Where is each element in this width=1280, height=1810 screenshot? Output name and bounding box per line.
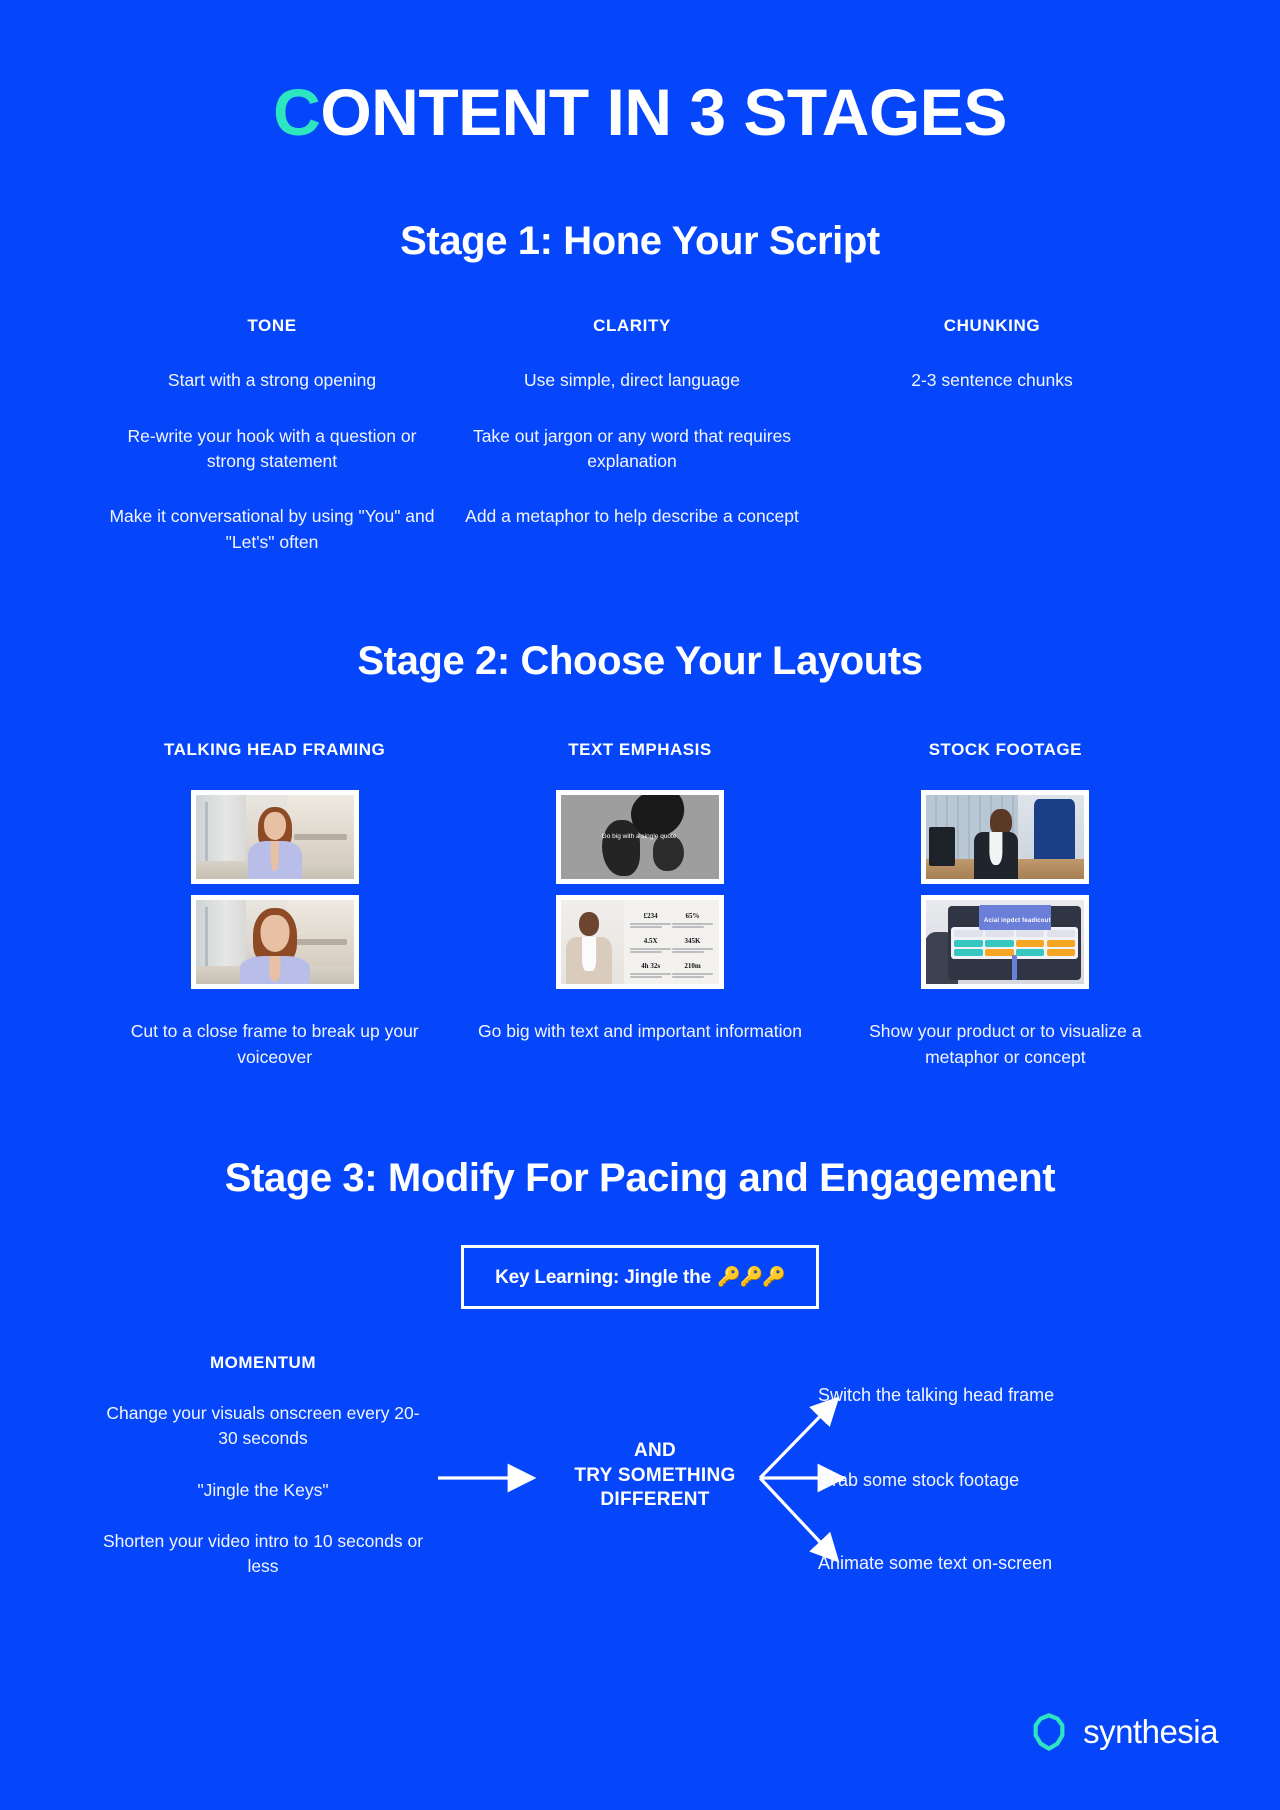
- dashboard-tile: [1047, 930, 1075, 937]
- stage1-column-chunking: CHUNKING 2-3 sentence chunks: [812, 316, 1172, 393]
- office-background-art-close: [196, 900, 354, 984]
- stage1-tone-heading: TONE: [102, 316, 442, 336]
- dashboard-tile-teal: [954, 940, 982, 947]
- stat-cell: 210m: [672, 955, 713, 979]
- key-learning-label: Key Learning: Jingle the: [495, 1267, 711, 1288]
- title-rest: ONTENT IN 3 STAGES: [320, 75, 1007, 149]
- diagram-branch-3: Animate some text on-screen: [818, 1553, 1052, 1574]
- quote-slide-art: Go big with a single quote.: [561, 795, 719, 879]
- dashboard-tile: [985, 930, 1013, 937]
- page-title: CONTENT IN 3 STAGES: [0, 0, 1280, 147]
- stage1-clarity-item-2: Take out jargon or any word that require…: [462, 424, 802, 475]
- momentum-item-3: Shorten your video intro to 10 seconds o…: [98, 1529, 428, 1580]
- stage2-stock-footage-caption: Show your product or to visualize a meta…: [831, 1019, 1180, 1070]
- stat-placeholder-lines: [672, 948, 713, 952]
- office-meeting-thumbnail: [921, 790, 1089, 884]
- stage-1-columns: TONE Start with a strong opening Re-writ…: [92, 316, 1188, 555]
- ink-blot-shape-2: [602, 820, 640, 875]
- dashboard-tile-teal: [985, 940, 1013, 947]
- stat-cell: 345K: [672, 930, 713, 954]
- dashboard-tile: [954, 930, 982, 937]
- stage1-tone-item-2: Re-write your hook with a question or st…: [102, 424, 442, 475]
- stat-value-6: 210m: [684, 962, 700, 970]
- stat-cell: 4h 32s: [630, 955, 671, 979]
- stage1-chunking-item-1: 2-3 sentence chunks: [822, 368, 1162, 393]
- stage2-text-emphasis-caption: Go big with text and important informati…: [465, 1019, 814, 1044]
- stage-1-heading: Stage 1: Hone Your Script: [92, 219, 1188, 264]
- dashboard-title: Acial inpdct feadicout: [984, 918, 1051, 924]
- quote-slide-thumbnail: Go big with a single quote.: [556, 790, 724, 884]
- infographic-page: CONTENT IN 3 STAGES Stage 1: Hone Your S…: [0, 0, 1280, 1810]
- stats-slide-art: £234 65% 4.5X: [561, 900, 719, 984]
- stage1-clarity-item-3: Add a metaphor to help describe a concep…: [462, 504, 802, 529]
- background-person-shape: [1034, 799, 1075, 861]
- key-emoji-icon: 🔑🔑🔑: [717, 1267, 785, 1288]
- stat-placeholder-lines: [672, 973, 713, 977]
- presenter-figure: [561, 900, 624, 984]
- key-learning-box: Key Learning: Jingle the🔑🔑🔑: [461, 1245, 819, 1309]
- stat-placeholder-lines: [672, 923, 713, 927]
- stat-placeholder-lines: [630, 923, 671, 927]
- stage2-text-emphasis-thumbs: Go big with a single quote. £234: [465, 790, 814, 989]
- stats-grid: £234 65% 4.5X: [624, 900, 719, 984]
- quote-slide-text: Go big with a single quote.: [574, 832, 707, 842]
- presenter-shirt-shape: [240, 956, 310, 984]
- stat-cell: 4.5X: [630, 930, 671, 954]
- presenter-face-shape: [260, 915, 289, 952]
- stat-value-2: 65%: [686, 912, 700, 920]
- stat-value-5: 4h 32s: [641, 962, 660, 970]
- stage2-text-emphasis-heading: TEXT EMPHASIS: [465, 740, 814, 760]
- stage-2-section: Stage 2: Choose Your Layouts TALKING HEA…: [0, 639, 1280, 1070]
- stage1-clarity-heading: CLARITY: [462, 316, 802, 336]
- office-background-art: [196, 795, 354, 879]
- dashboard-tile-orange: [1016, 940, 1044, 947]
- person-suit-shape: [974, 832, 1018, 879]
- talking-head-wide-shot-thumbnail: [191, 790, 359, 884]
- diagram-branch-1: Switch the talking head frame: [818, 1385, 1054, 1406]
- presenter-head-shape: [579, 912, 599, 936]
- stage-2-columns: TALKING HEAD FRAMING: [92, 740, 1188, 1070]
- stage2-talking-head-heading: TALKING HEAD FRAMING: [100, 740, 449, 760]
- synthesia-wordmark: synthesia: [1083, 1713, 1218, 1751]
- tablet-screen: Acial inpdct feadicout: [951, 905, 1078, 980]
- synthesia-octagon-icon: [1029, 1712, 1069, 1752]
- stage2-column-talking-head: TALKING HEAD FRAMING: [92, 740, 457, 1070]
- stage1-clarity-item-1: Use simple, direct language: [462, 368, 802, 393]
- title-accent-letter: C: [273, 75, 320, 149]
- hub-line-3: DIFFERENT: [565, 1488, 745, 1513]
- monitor-shape: [929, 827, 954, 866]
- stage2-talking-head-thumbs: [100, 790, 449, 989]
- stat-placeholder-lines: [630, 973, 671, 977]
- hub-line-1: AND: [565, 1439, 745, 1464]
- stage1-chunking-heading: CHUNKING: [822, 316, 1162, 336]
- stage2-talking-head-caption: Cut to a close frame to break up your vo…: [100, 1019, 449, 1070]
- stat-cell: 65%: [672, 905, 713, 929]
- stage-3-diagram: MOMENTUM Change your visuals onscreen ev…: [60, 1353, 1220, 1603]
- dashboard-tablet-art: Acial inpdct feadicout: [926, 900, 1084, 984]
- dashboard-tile-orange: [1047, 949, 1075, 956]
- dashboard-tablet-thumbnail: Acial inpdct feadicout: [921, 895, 1089, 989]
- hub-line-2: TRY SOMETHING: [565, 1464, 745, 1489]
- talking-head-close-shot-thumbnail: [191, 895, 359, 989]
- dashboard-tile-teal: [954, 949, 982, 956]
- tablet-frame-shape: Acial inpdct feadicout: [948, 906, 1081, 980]
- presenter-jacket-shape: [566, 937, 612, 984]
- presenter-shirt-shape: [248, 841, 302, 879]
- stat-value-1: £234: [644, 912, 658, 920]
- stage1-column-tone: TONE Start with a strong opening Re-writ…: [92, 316, 452, 555]
- stage-3-section: Stage 3: Modify For Pacing and Engagemen…: [0, 1156, 1280, 1603]
- stat-value-4: 345K: [685, 937, 701, 945]
- diagram-hub-label: AND TRY SOMETHING DIFFERENT: [565, 1439, 745, 1513]
- stage1-tone-item-3: Make it conversational by using "You" an…: [102, 504, 442, 555]
- dashboard-tile-orange: [1047, 940, 1075, 947]
- diagram-branch-2: Grab some stock footage: [818, 1470, 1019, 1491]
- stage-2-heading: Stage 2: Choose Your Layouts: [92, 639, 1188, 684]
- stage-1-section: Stage 1: Hone Your Script TONE Start wit…: [0, 219, 1280, 555]
- momentum-item-1: Change your visuals onscreen every 20-30…: [98, 1401, 428, 1452]
- office-meeting-art: [926, 795, 1084, 879]
- stage2-column-stock-footage: STOCK FOOTAGE: [823, 740, 1188, 1070]
- stats-slide-thumbnail: £234 65% 4.5X: [556, 895, 724, 989]
- dashboard-tile-teal: [1016, 949, 1044, 956]
- arrow-hub-to-branch-1: [760, 1401, 835, 1478]
- presenter-face-shape: [264, 812, 286, 840]
- stage-3-heading: Stage 3: Modify For Pacing and Engagemen…: [60, 1156, 1220, 1201]
- dashboard-tile-orange: [985, 949, 1013, 956]
- momentum-block: MOMENTUM Change your visuals onscreen ev…: [98, 1353, 428, 1580]
- footer-logo: synthesia: [1029, 1712, 1218, 1752]
- stage2-stock-footage-thumbs: Acial inpdct feadicout: [831, 790, 1180, 989]
- stage1-tone-item-1: Start with a strong opening: [102, 368, 442, 393]
- dashboard-card: [951, 927, 1078, 959]
- momentum-heading: MOMENTUM: [98, 1353, 428, 1373]
- stage2-column-text-emphasis: TEXT EMPHASIS Go big with a single quote…: [457, 740, 822, 1044]
- stat-value-3: 4.5X: [644, 937, 658, 945]
- dashboard-tile: [1016, 930, 1044, 937]
- stage2-stock-footage-heading: STOCK FOOTAGE: [831, 740, 1180, 760]
- stat-cell: £234: [630, 905, 671, 929]
- stat-placeholder-lines: [630, 948, 671, 952]
- stage1-column-clarity: CLARITY Use simple, direct language Take…: [452, 316, 812, 530]
- momentum-item-2: "Jingle the Keys": [98, 1478, 428, 1503]
